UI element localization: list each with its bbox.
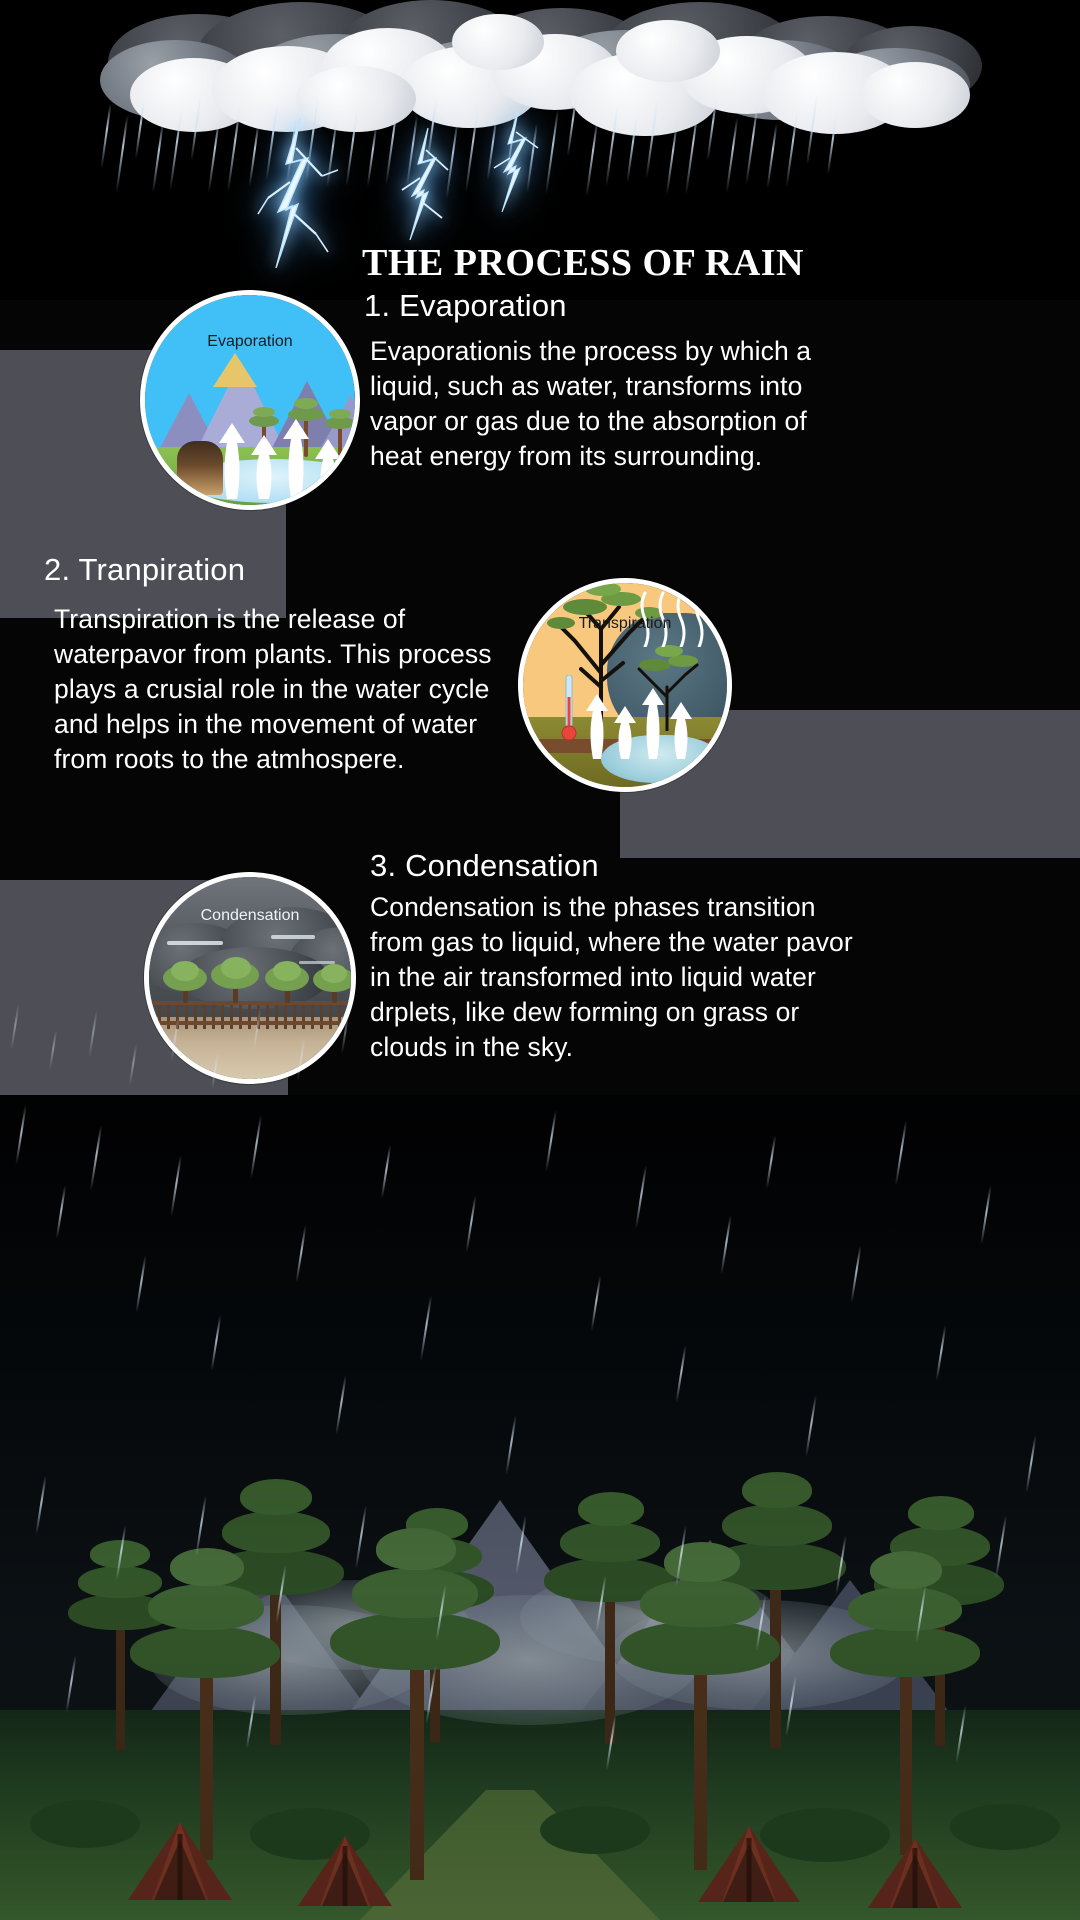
condensation-tree-1 [163,961,207,1003]
condensation-tree-4 [313,963,355,1003]
condensation-light-streak-1 [167,941,223,945]
lightning-bolt-center [392,128,478,240]
infographic-poster: THE PROCESS OF RAIN [0,0,1080,1920]
section-2-heading: 2. Tranpiration [44,552,245,588]
condensation-tree-2 [211,957,259,1003]
section-2-body: Transpiration is the release of waterpav… [54,602,524,777]
forest-night-overlay [0,1095,1080,1920]
page-title: THE PROCESS OF RAIN [362,244,882,284]
evaporation-circle-label: Evaporation [145,333,355,351]
evaporation-vapor-arrows [207,384,357,499]
forest-illustration [0,1095,1080,1920]
evaporation-circle-image: Evaporation [140,290,360,510]
transpiration-circle-image: Transpiration [518,578,732,792]
section-3-heading: 3. Condensation [370,848,599,884]
condensation-circle-label: Condensation [149,907,351,925]
transpiration-vapor-arrows [581,649,701,759]
transpiration-circle-label: Transpiration [523,615,727,633]
condensation-light-streak-2 [271,935,315,939]
section-3-body: Condensation is the phases transition fr… [370,890,870,1065]
evaporation-mountain-peak [213,353,257,387]
lightning-bolt-left [252,118,362,268]
mid-rain-overlay [0,1000,400,1100]
section-1-heading: 1. Evaporation [364,288,567,324]
condensation-tree-3 [265,961,309,1003]
section-1-body: Evaporationis the process by which a liq… [370,334,834,474]
lightning-bolt-right [488,112,568,212]
transpiration-thermometer [561,675,577,745]
